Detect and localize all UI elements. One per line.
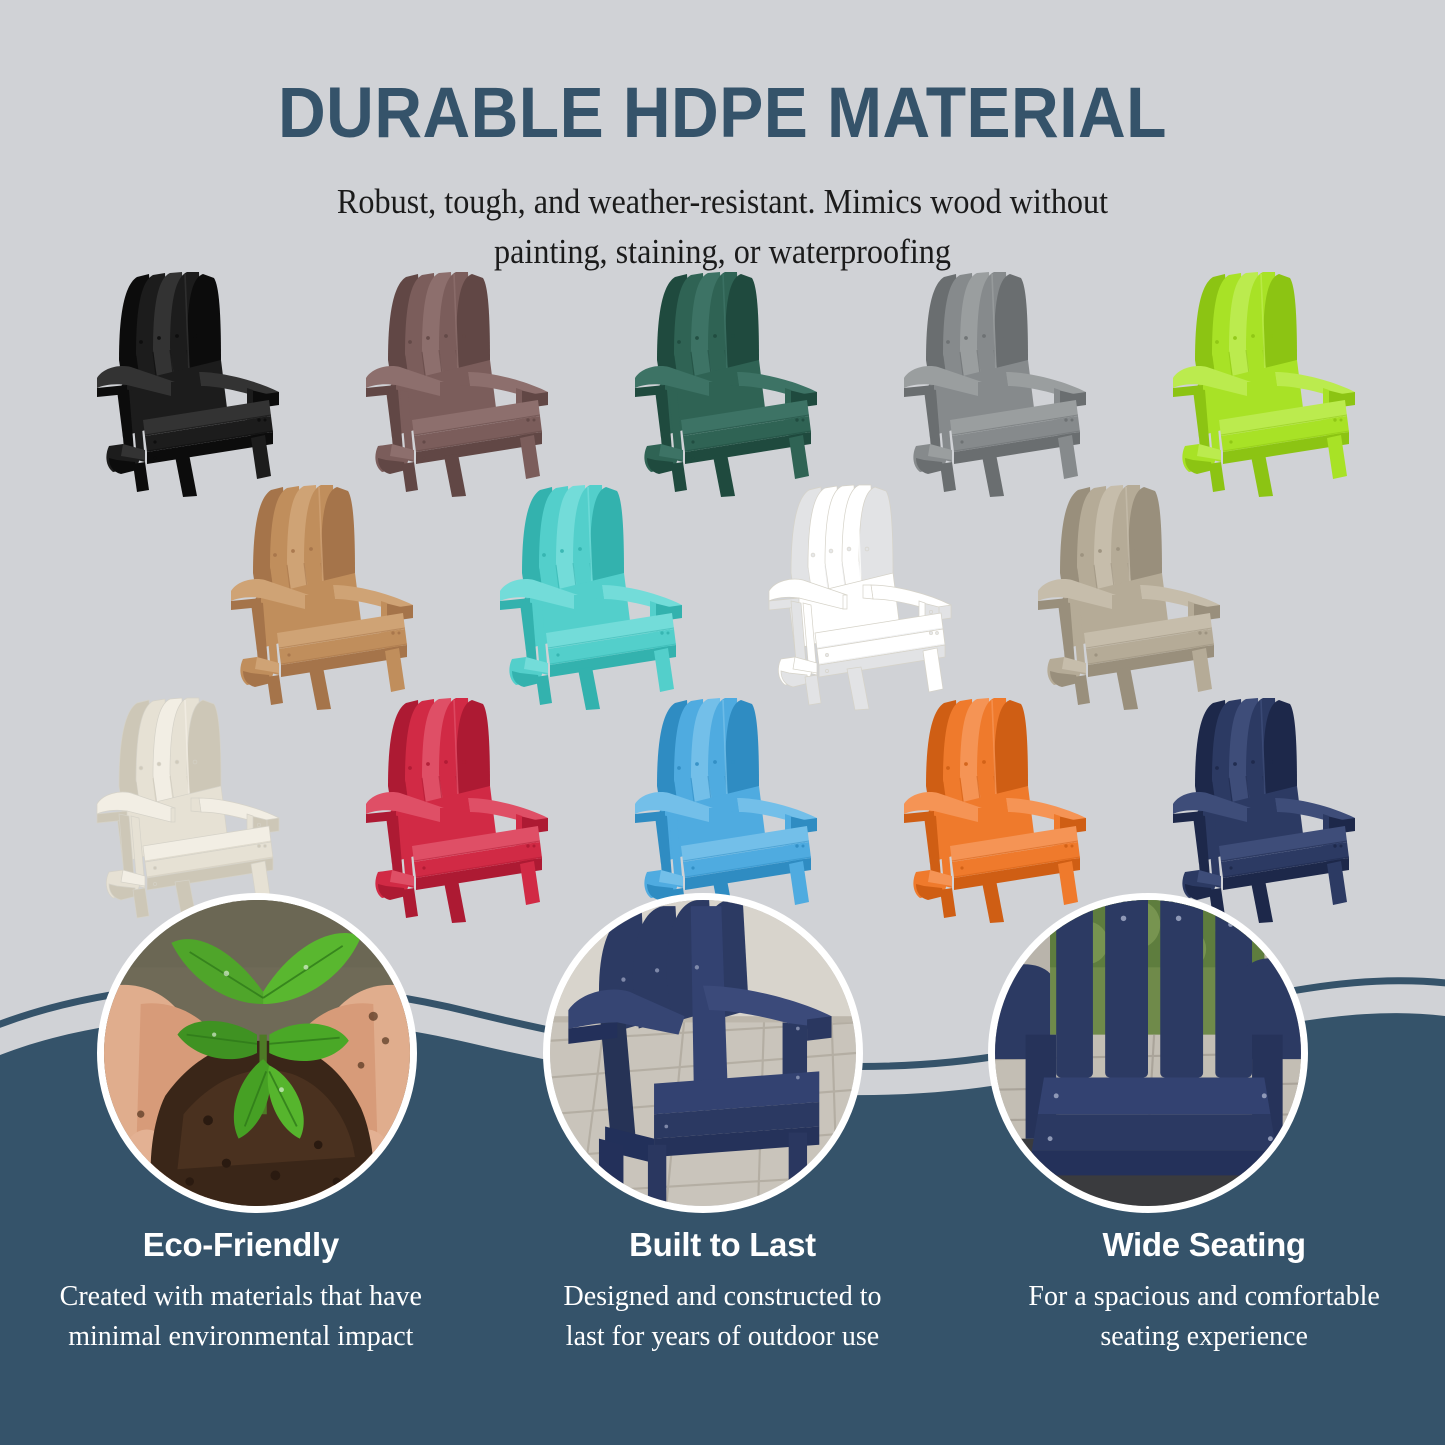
page-title: DURABLE HDPE MATERIAL [51,0,1395,149]
feature-desc-line-1: Created with materials that have [60,1281,422,1312]
chair-swatch-lime-green[interactable] [1155,268,1367,498]
feature-desc-line-2: minimal environmental impact [68,1321,413,1352]
chair-swatch-light-blue[interactable] [617,694,829,924]
feature-desc-line-1: Designed and constructed to [563,1281,881,1312]
feature-description: For a spacious and comfortable seating e… [963,1277,1445,1357]
feature-description: Created with materials that have minimal… [0,1277,482,1357]
feature-heading: Eco-Friendly [0,1227,482,1263]
chair-color-grid [0,268,1445,908]
chair-swatch-gray[interactable] [886,268,1098,498]
feature-eco-friendly: Eco-Friendly Created with materials that… [0,1227,482,1357]
seating-photo-circle [988,893,1308,1213]
durability-photo-circle [543,893,863,1213]
feature-list: Eco-Friendly Created with materials that… [0,1227,1445,1357]
chair-swatch-red[interactable] [348,694,560,924]
chair-swatch-brown[interactable] [348,268,560,498]
chair-swatch-black[interactable] [79,268,291,498]
chair-swatch-khaki[interactable] [1020,481,1232,711]
page-subtitle: Robust, tough, and weather-resistant. Mi… [58,149,1387,276]
chair-swatch-teak[interactable] [213,481,425,711]
subtitle-line-2: painting, staining, or waterproofing [494,232,951,271]
chair-swatch-navy-blue[interactable] [1155,694,1367,924]
feature-desc-line-2: seating experience [1100,1321,1308,1352]
chair-row-2 [0,481,1445,711]
feature-built-to-last: Built to Last Designed and constructed t… [482,1227,964,1357]
chair-row-3 [0,694,1445,924]
chair-row-1 [0,268,1445,498]
eco-photo-circle [97,893,417,1213]
chair-swatch-white[interactable] [751,481,963,711]
chair-swatch-ivory[interactable] [79,694,291,924]
chair-swatch-dark-green[interactable] [617,268,829,498]
infographic-canvas: DURABLE HDPE MATERIAL Robust, tough, and… [0,0,1445,1445]
chair-swatch-orange[interactable] [886,694,1098,924]
feature-wide-seating: Wide Seating For a spacious and comforta… [963,1227,1445,1357]
feature-heading: Built to Last [482,1227,964,1263]
feature-heading: Wide Seating [963,1227,1445,1263]
feature-photos [0,893,1445,1223]
feature-description: Designed and constructed to last for yea… [482,1277,964,1357]
header: DURABLE HDPE MATERIAL Robust, tough, and… [0,0,1445,276]
feature-desc-line-1: For a spacious and comfortable [1028,1281,1379,1312]
subtitle-line-1: Robust, tough, and weather-resistant. Mi… [337,182,1108,221]
chair-swatch-turquoise[interactable] [482,481,694,711]
feature-desc-line-2: last for years of outdoor use [566,1321,879,1352]
